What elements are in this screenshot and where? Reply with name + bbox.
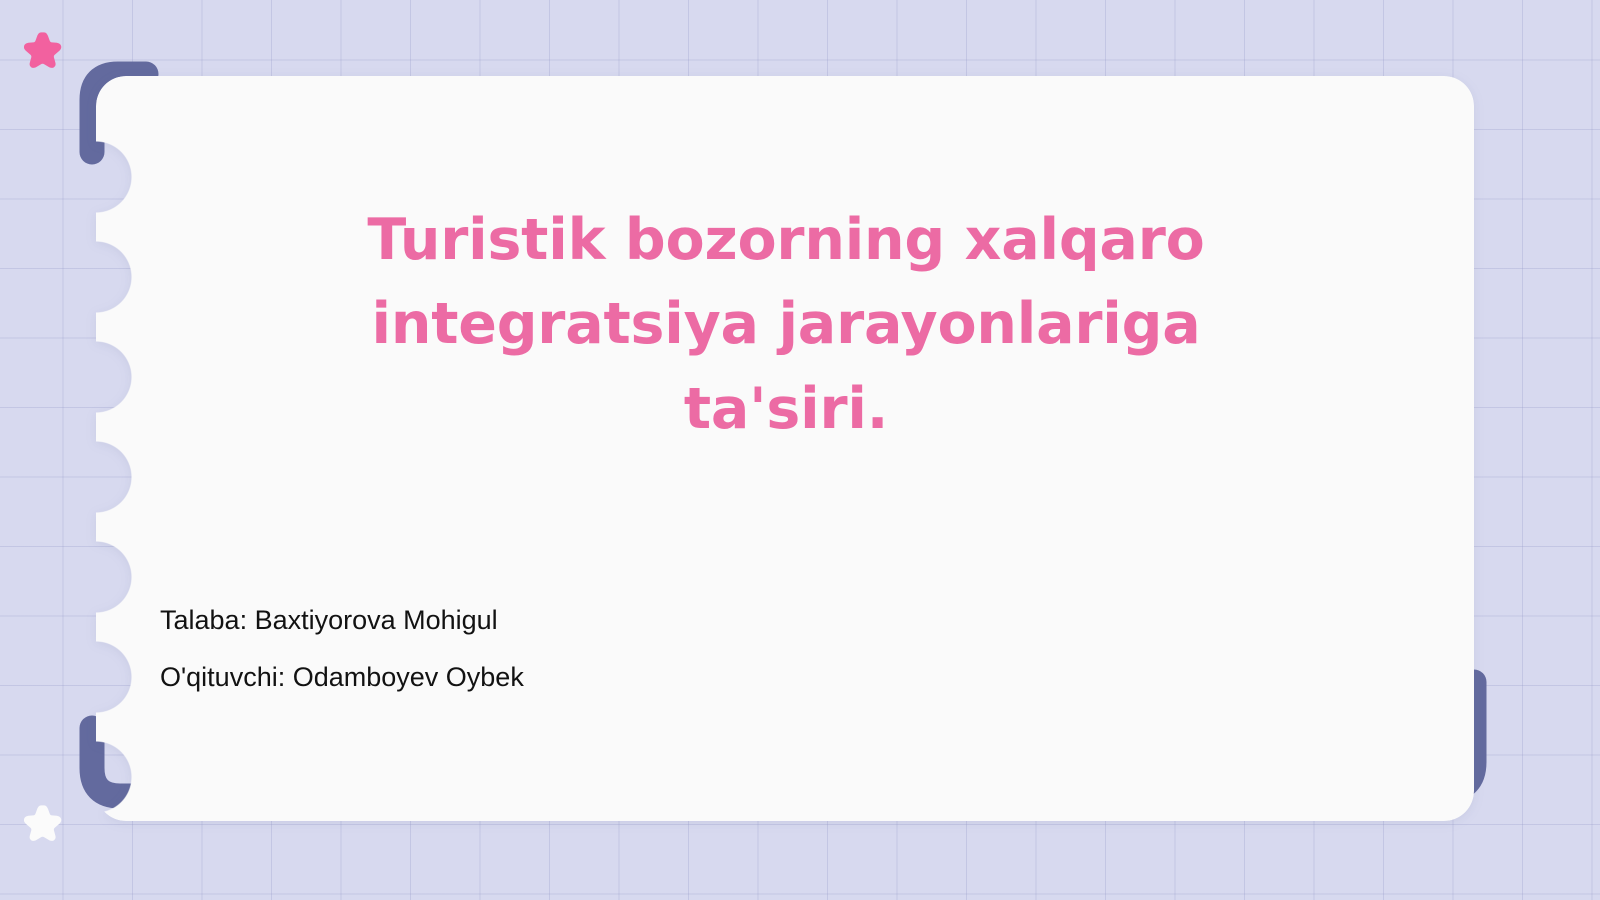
- star-icon-bottom-left: [24, 803, 64, 843]
- byline-student: Talaba: Baxtiyorova Mohigul: [160, 604, 1060, 638]
- card-content: Turistik bozorning xalqaro integratsiya …: [96, 76, 1474, 821]
- presentation-slide: Turistik bozorning xalqaro integratsiya …: [0, 0, 1600, 900]
- byline-block: Talaba: Baxtiyorova Mohigul O'qituvchi: …: [160, 604, 1060, 695]
- star-icon-top-left: [24, 30, 64, 70]
- byline-teacher: O'qituvchi: Odamboyev Oybek: [160, 661, 1060, 695]
- slide-card: Turistik bozorning xalqaro integratsiya …: [96, 76, 1474, 821]
- slide-title: Turistik bozorning xalqaro integratsiya …: [286, 198, 1286, 451]
